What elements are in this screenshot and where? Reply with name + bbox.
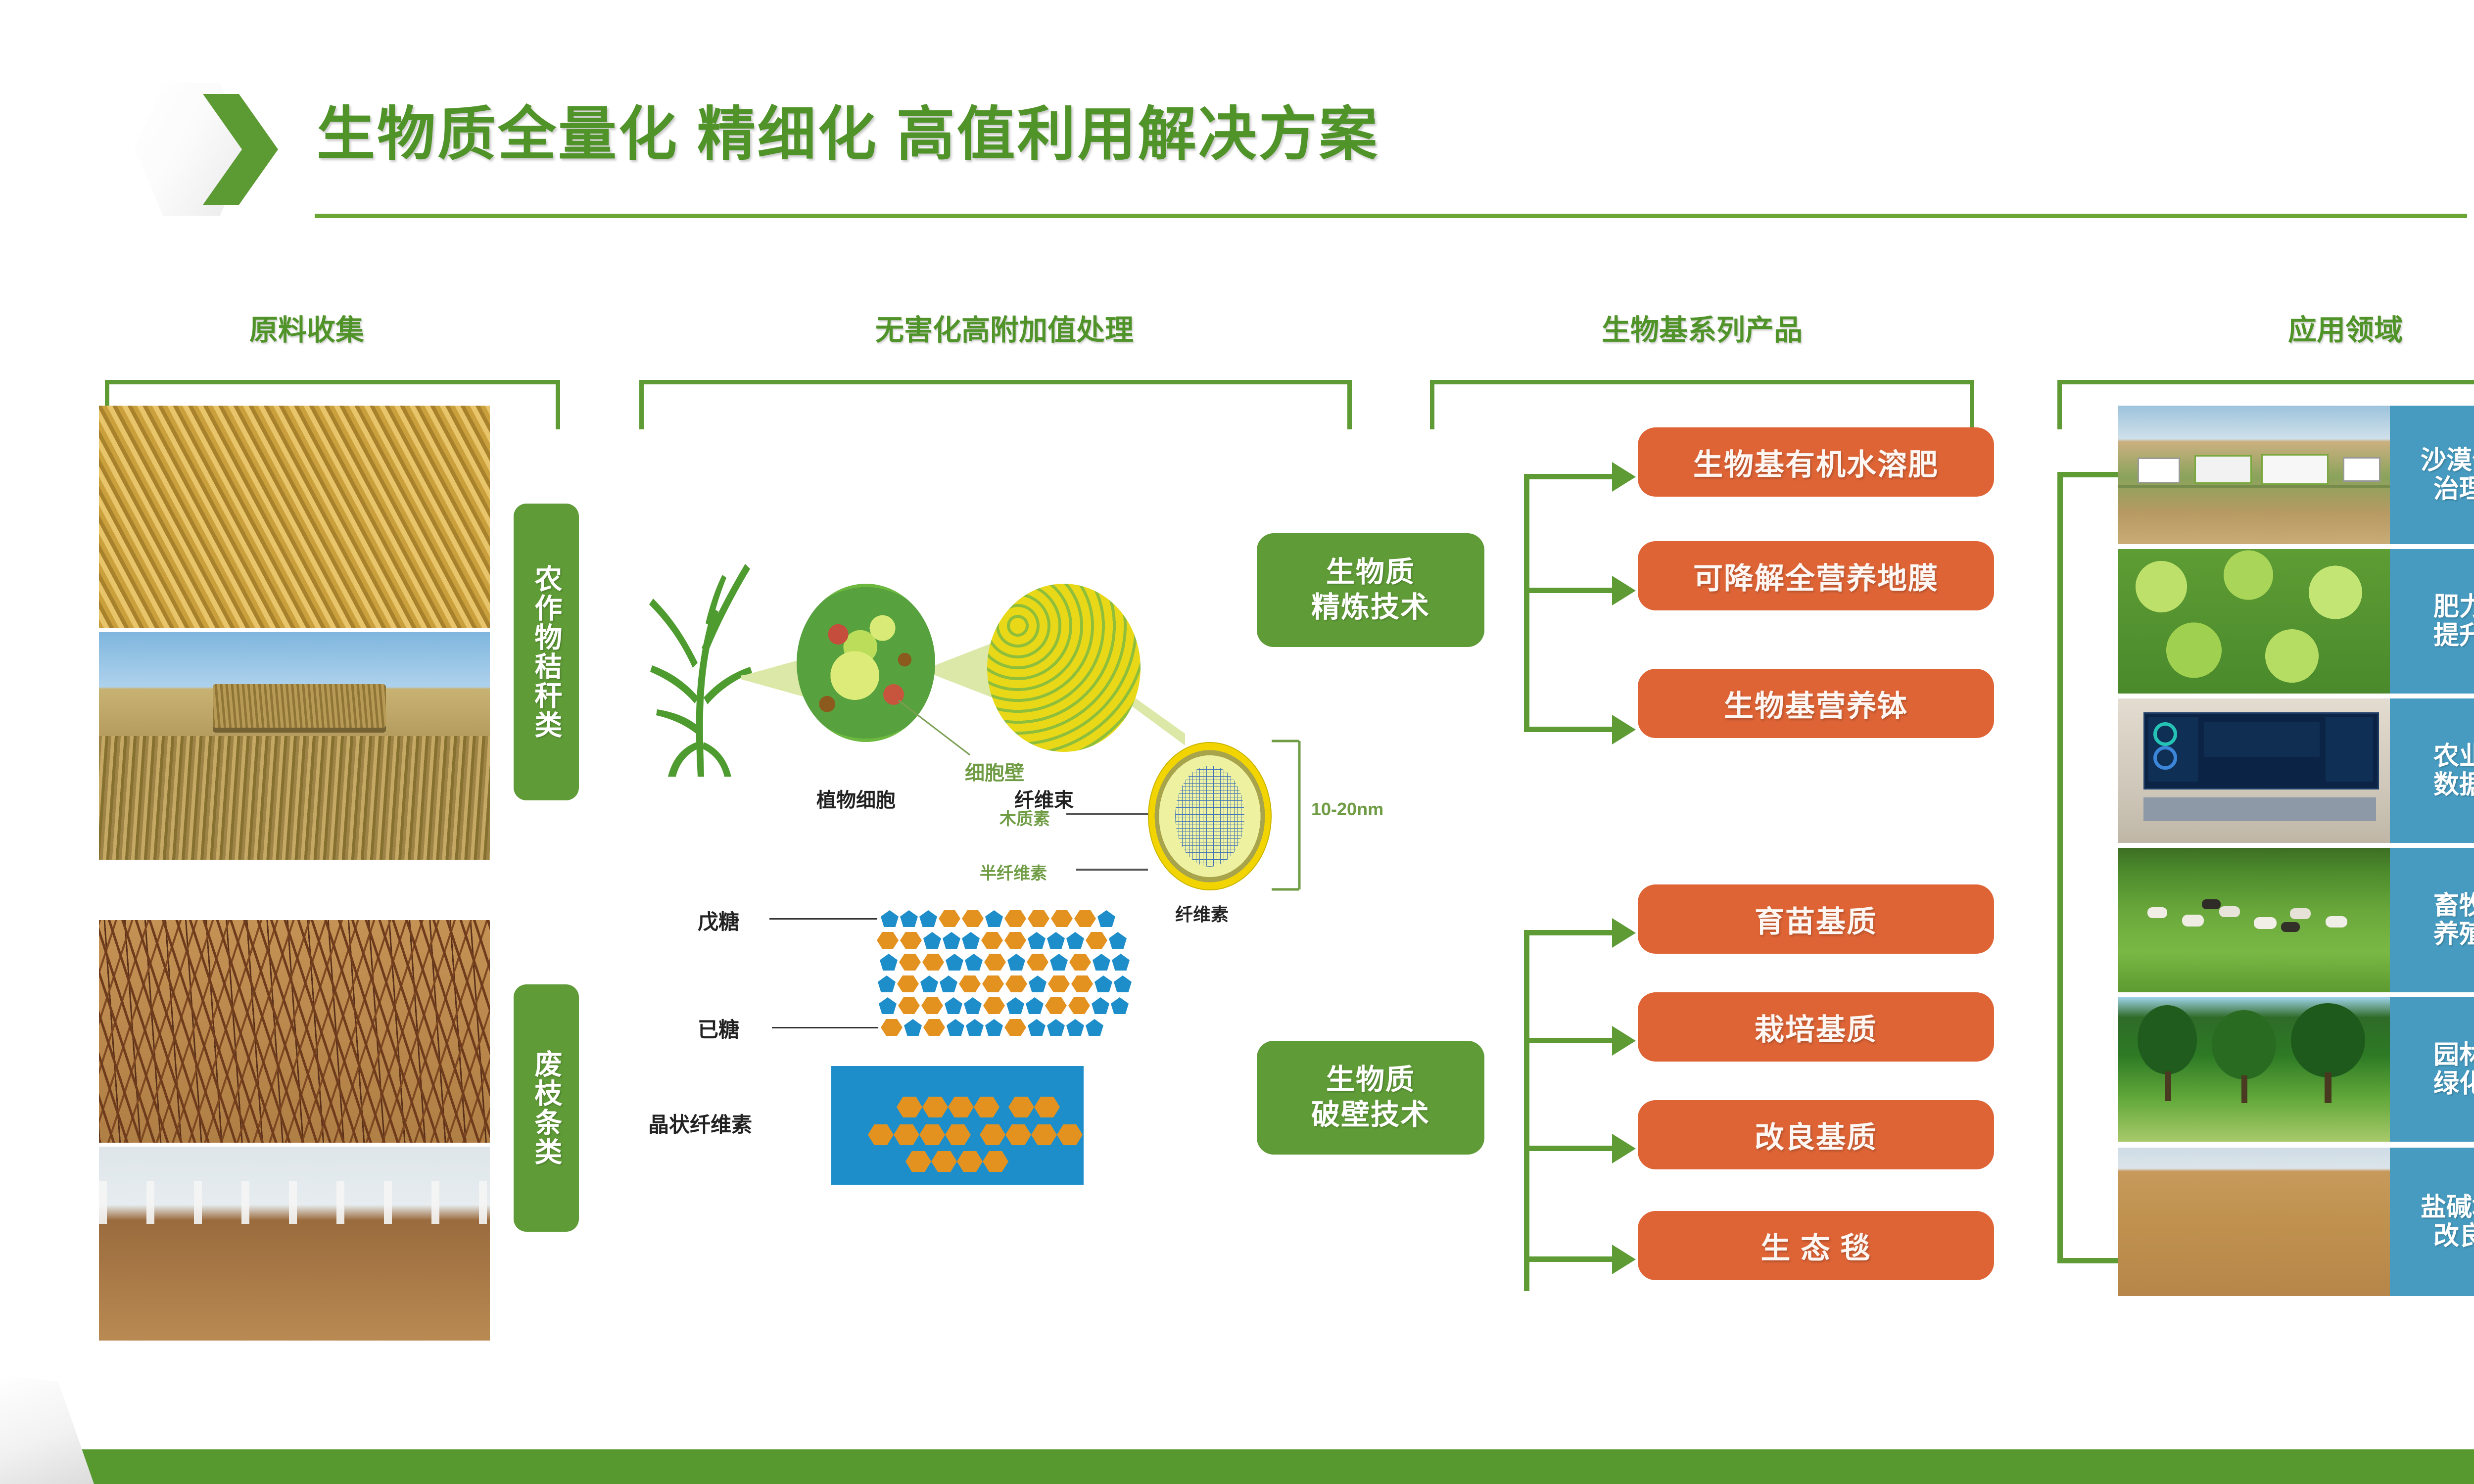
application-tag-fertility: 肥力 提升 bbox=[2390, 549, 2474, 694]
application-row-fertility[interactable]: 肥力 提升 bbox=[2118, 549, 2474, 694]
footer-bar bbox=[0, 1449, 2474, 1484]
flow2-branch-2 bbox=[1524, 1038, 1613, 1043]
product-box-improvement-substrate[interactable]: 改良基质 bbox=[1638, 1100, 1994, 1169]
application-image-control-room bbox=[2118, 698, 2390, 843]
label-fiber-dimension: 10-20nm bbox=[1311, 799, 1383, 820]
application-tag-line1: 园林 bbox=[2433, 1041, 2474, 1069]
application-tag-saline-soil: 盐碱地 改良 bbox=[2390, 1148, 2474, 1296]
flow2-vertical-stem bbox=[1524, 930, 1529, 1291]
section-header-2: 无害化高附加值处理 bbox=[658, 307, 1351, 348]
application-image-desert bbox=[2118, 406, 2390, 544]
application-row-desert-control[interactable]: 沙漠化 治理 bbox=[2118, 406, 2474, 544]
application-tag-agri-data: 农业 数据 bbox=[2390, 698, 2474, 843]
hemicellulose-leader-line bbox=[1076, 867, 1150, 873]
application-tag-line2: 绿化 bbox=[2433, 1069, 2474, 1098]
application-row-saline-soil[interactable]: 盐碱地 改良 bbox=[2118, 1148, 2474, 1296]
crystalline-cellulose-diagram bbox=[831, 1066, 1084, 1185]
label-hexose: 已糖 bbox=[698, 1013, 739, 1043]
application-tag-line1: 肥力 bbox=[2433, 593, 2474, 621]
section-bracket-3 bbox=[1430, 380, 1974, 429]
product-box-ecological-blanket[interactable]: 生 态 毯 bbox=[1638, 1211, 1994, 1280]
application-tag-line2: 改良 bbox=[2421, 1222, 2474, 1251]
feedstock-photo-baled-straw bbox=[99, 632, 490, 860]
flow1-branch-3 bbox=[1524, 727, 1613, 732]
application-row-landscaping[interactable]: 园林 绿化 bbox=[2118, 997, 2474, 1142]
tech-line-2: 精炼技术 bbox=[1311, 590, 1430, 625]
application-image-cabbage bbox=[2118, 549, 2390, 694]
tech-box-biomass-refining[interactable]: 生物质 精炼技术 bbox=[1257, 533, 1484, 647]
sugar-chain-diagram bbox=[831, 910, 1188, 1049]
feedstock-photo-corn-straw bbox=[99, 406, 490, 628]
application-bracket bbox=[2057, 472, 2122, 1263]
label-lignin: 木质素 bbox=[999, 805, 1050, 830]
application-tag-line1: 畜牧 bbox=[2433, 891, 2474, 920]
cellulose-fiber-cross-section bbox=[1148, 742, 1272, 890]
flow2-arrow-2 bbox=[1612, 1026, 1636, 1056]
sugar-row bbox=[877, 932, 1128, 951]
label-cell-wall: 细胞壁 bbox=[965, 757, 1024, 786]
lignin-leader-line bbox=[1066, 811, 1150, 817]
application-image-sheep-pasture bbox=[2118, 848, 2390, 992]
application-tag-line2: 养殖 bbox=[2433, 920, 2474, 949]
feedstock-photo-dry-branches bbox=[99, 920, 490, 1143]
flow1-branch-1 bbox=[1524, 474, 1613, 479]
magnify-beam-2 bbox=[928, 643, 992, 697]
application-row-livestock[interactable]: 畜牧 养殖 bbox=[2118, 848, 2474, 992]
label-plant-cell: 植物细胞 bbox=[816, 784, 896, 813]
application-tag-line1: 盐碱地 bbox=[2421, 1193, 2474, 1222]
label-hemicellulose: 半纤维素 bbox=[980, 860, 1047, 884]
application-tag-line1: 沙漠化 bbox=[2421, 446, 2474, 475]
feedstock-photo-orchard-pruning bbox=[99, 1147, 490, 1341]
flow2-arrow-1 bbox=[1612, 918, 1636, 948]
product-box-seedling-substrate[interactable]: 育苗基质 bbox=[1638, 884, 1994, 954]
feedstock-category-crop-straw: 农作物秸秆类 bbox=[514, 504, 579, 800]
page-title: 生物质全量化 精细化 高值利用解决方案 bbox=[317, 87, 1380, 171]
application-tag-line1: 农业 bbox=[2433, 742, 2474, 771]
tech-line-2: 破壁技术 bbox=[1311, 1098, 1430, 1133]
fiber-bundle-illustration bbox=[987, 584, 1141, 752]
application-row-agri-data[interactable]: 农业 数据 bbox=[2118, 698, 2474, 843]
sugar-row bbox=[878, 975, 1133, 994]
label-crystalline-cellulose: 晶状纤维素 bbox=[648, 1108, 752, 1138]
tech-line-1: 生物质 bbox=[1311, 555, 1430, 590]
flow1-arrow-2 bbox=[1612, 576, 1636, 605]
flow2-branch-1 bbox=[1524, 930, 1613, 935]
product-box-degradable-mulch-film[interactable]: 可降解全营养地膜 bbox=[1638, 541, 1994, 610]
flow2-arrow-4 bbox=[1612, 1245, 1636, 1274]
sugar-row bbox=[879, 997, 1130, 1016]
footer-wedge-shape bbox=[0, 1375, 94, 1484]
product-box-cultivation-substrate[interactable]: 栽培基质 bbox=[1638, 992, 1994, 1062]
pentose-leader-line bbox=[769, 918, 877, 920]
feedstock-category-waste-branches: 废枝条类 bbox=[514, 984, 579, 1232]
application-tag-landscaping: 园林 绿化 bbox=[2390, 997, 2474, 1142]
hexose-leader-line bbox=[772, 1027, 878, 1028]
flow1-vertical-stem bbox=[1524, 474, 1529, 732]
section-header-4: 应用领域 bbox=[2167, 307, 2474, 348]
section-bracket-2 bbox=[639, 380, 1352, 429]
hexagon-logo bbox=[135, 74, 278, 223]
sugar-row bbox=[881, 910, 1117, 929]
section-header-1: 原料收集 bbox=[168, 307, 445, 348]
tech-line-1: 生物质 bbox=[1311, 1063, 1430, 1098]
flow1-arrow-1 bbox=[1612, 462, 1636, 492]
section-header-3: 生物基系列产品 bbox=[1435, 307, 1969, 348]
flow2-arrow-3 bbox=[1612, 1134, 1636, 1163]
grass-plant-icon bbox=[638, 549, 762, 777]
application-tag-line2: 治理 bbox=[2421, 475, 2474, 504]
application-tag-desert-control: 沙漠化 治理 bbox=[2390, 406, 2474, 544]
label-pentose: 戊糖 bbox=[698, 905, 739, 935]
flow1-arrow-3 bbox=[1612, 715, 1636, 744]
fiber-dimension-bracket bbox=[1271, 737, 1310, 895]
cell-wall-leader-line bbox=[896, 697, 990, 762]
flow2-branch-4 bbox=[1524, 1256, 1613, 1262]
title-bar: 生物质全量化 精细化 高值利用解决方案 bbox=[0, 0, 2474, 232]
application-image-saline-soil bbox=[2118, 1148, 2390, 1296]
sugar-row bbox=[881, 1019, 1105, 1038]
application-image-park-trees bbox=[2118, 997, 2390, 1142]
feedstock-photo-column bbox=[99, 406, 490, 1341]
flow1-branch-2 bbox=[1524, 588, 1613, 593]
sugar-row bbox=[880, 954, 1131, 973]
application-tag-line2: 数据 bbox=[2433, 771, 2474, 799]
product-box-bio-nutrition-pot[interactable]: 生物基营养钵 bbox=[1638, 669, 1994, 738]
application-tag-livestock: 畜牧 养殖 bbox=[2390, 848, 2474, 992]
tech-box-biomass-wall-breaking[interactable]: 生物质 破壁技术 bbox=[1257, 1041, 1484, 1155]
title-underline bbox=[315, 214, 2467, 218]
application-tag-line2: 提升 bbox=[2433, 621, 2474, 650]
product-box-bio-organic-fertilizer[interactable]: 生物基有机水溶肥 bbox=[1638, 427, 1994, 497]
flow2-branch-3 bbox=[1524, 1146, 1613, 1151]
